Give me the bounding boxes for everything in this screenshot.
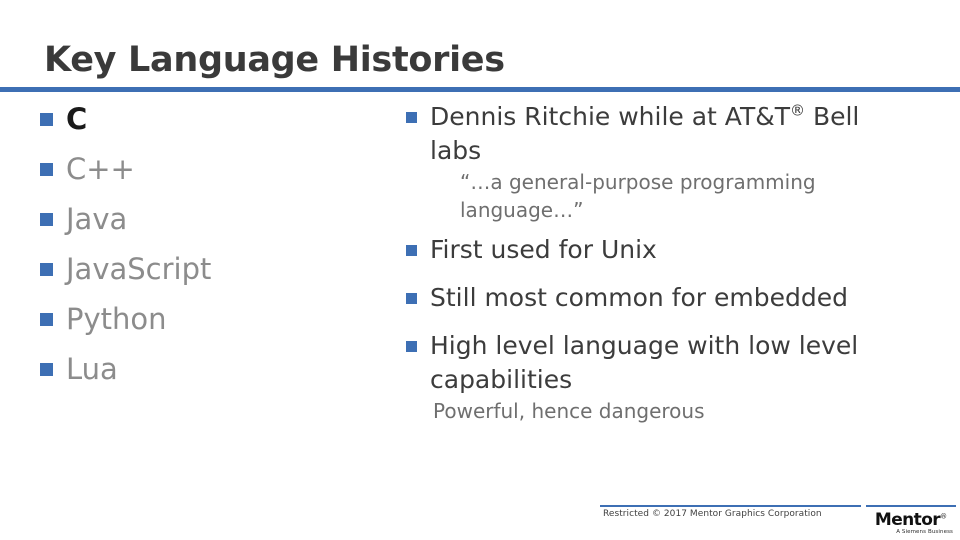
language-item-javascript[interactable]: JavaScript: [40, 250, 390, 300]
fact-text: Dennis Ritchie while at AT&T® Bell labs: [430, 100, 906, 168]
language-label: Lua: [66, 350, 118, 388]
fact-body: Still most common for embedded: [430, 281, 906, 315]
bullet-square-icon: [40, 163, 53, 176]
fact-item-origin: Dennis Ritchie while at AT&T® Bell labs …: [406, 100, 906, 224]
logo-registered-icon: ®: [940, 512, 947, 520]
bullet-square-icon: [406, 341, 417, 352]
title-area: Key Language Histories: [0, 0, 960, 92]
bullet-square-icon: [40, 113, 53, 126]
bullet-square-icon: [40, 363, 53, 376]
language-item-cpp[interactable]: C++: [40, 150, 390, 200]
bullet-square-icon: [406, 245, 417, 256]
language-item-lua[interactable]: Lua: [40, 350, 390, 400]
fact-text: Still most common for embedded: [430, 281, 906, 315]
language-item-c[interactable]: C: [40, 100, 390, 150]
page-title: Key Language Histories: [44, 40, 505, 80]
bullet-square-icon: [406, 112, 417, 123]
language-label: C: [66, 100, 87, 138]
copyright-notice: Restricted © 2017 Mentor Graphics Corpor…: [603, 509, 822, 519]
logo-name-text: Mentor: [875, 510, 940, 530]
fact-item-high-level: High level language with low level capab…: [406, 329, 906, 425]
logo-wordmark: Mentor®: [866, 510, 956, 530]
logo-tagline: A Siemens Business: [866, 529, 953, 535]
language-label: JavaScript: [66, 250, 211, 288]
footer-divider: [600, 505, 861, 507]
language-label: C++: [66, 150, 135, 188]
bullet-square-icon: [406, 293, 417, 304]
slide: Key Language Histories C C++ Java JavaSc…: [0, 0, 960, 540]
fact-text: High level language with low level capab…: [430, 329, 906, 397]
fact-subtext-quote: “…a general-purpose programming language…: [430, 168, 906, 224]
language-label: Java: [66, 200, 127, 238]
language-list: C C++ Java JavaScript Python Lua: [40, 100, 390, 400]
fact-list: Dennis Ritchie while at AT&T® Bell labs …: [406, 100, 906, 431]
language-label: Python: [66, 300, 167, 338]
fact-text: First used for Unix: [430, 233, 906, 267]
fact-text-part-a: Dennis Ritchie while at AT&T: [430, 102, 790, 131]
language-item-java[interactable]: Java: [40, 200, 390, 250]
mentor-logo: Mentor® A Siemens Business: [866, 505, 956, 536]
bullet-square-icon: [40, 263, 53, 276]
fact-subtext-powerful: Powerful, hence dangerous: [430, 397, 906, 425]
fact-body: Dennis Ritchie while at AT&T® Bell labs …: [430, 100, 906, 224]
title-divider: [0, 87, 960, 92]
bullet-square-icon: [40, 313, 53, 326]
registered-trademark-icon: ®: [790, 102, 805, 120]
fact-item-embedded: Still most common for embedded: [406, 281, 906, 315]
fact-body: First used for Unix: [430, 233, 906, 267]
fact-item-unix: First used for Unix: [406, 233, 906, 267]
bullet-square-icon: [40, 213, 53, 226]
language-item-python[interactable]: Python: [40, 300, 390, 350]
fact-body: High level language with low level capab…: [430, 329, 906, 425]
